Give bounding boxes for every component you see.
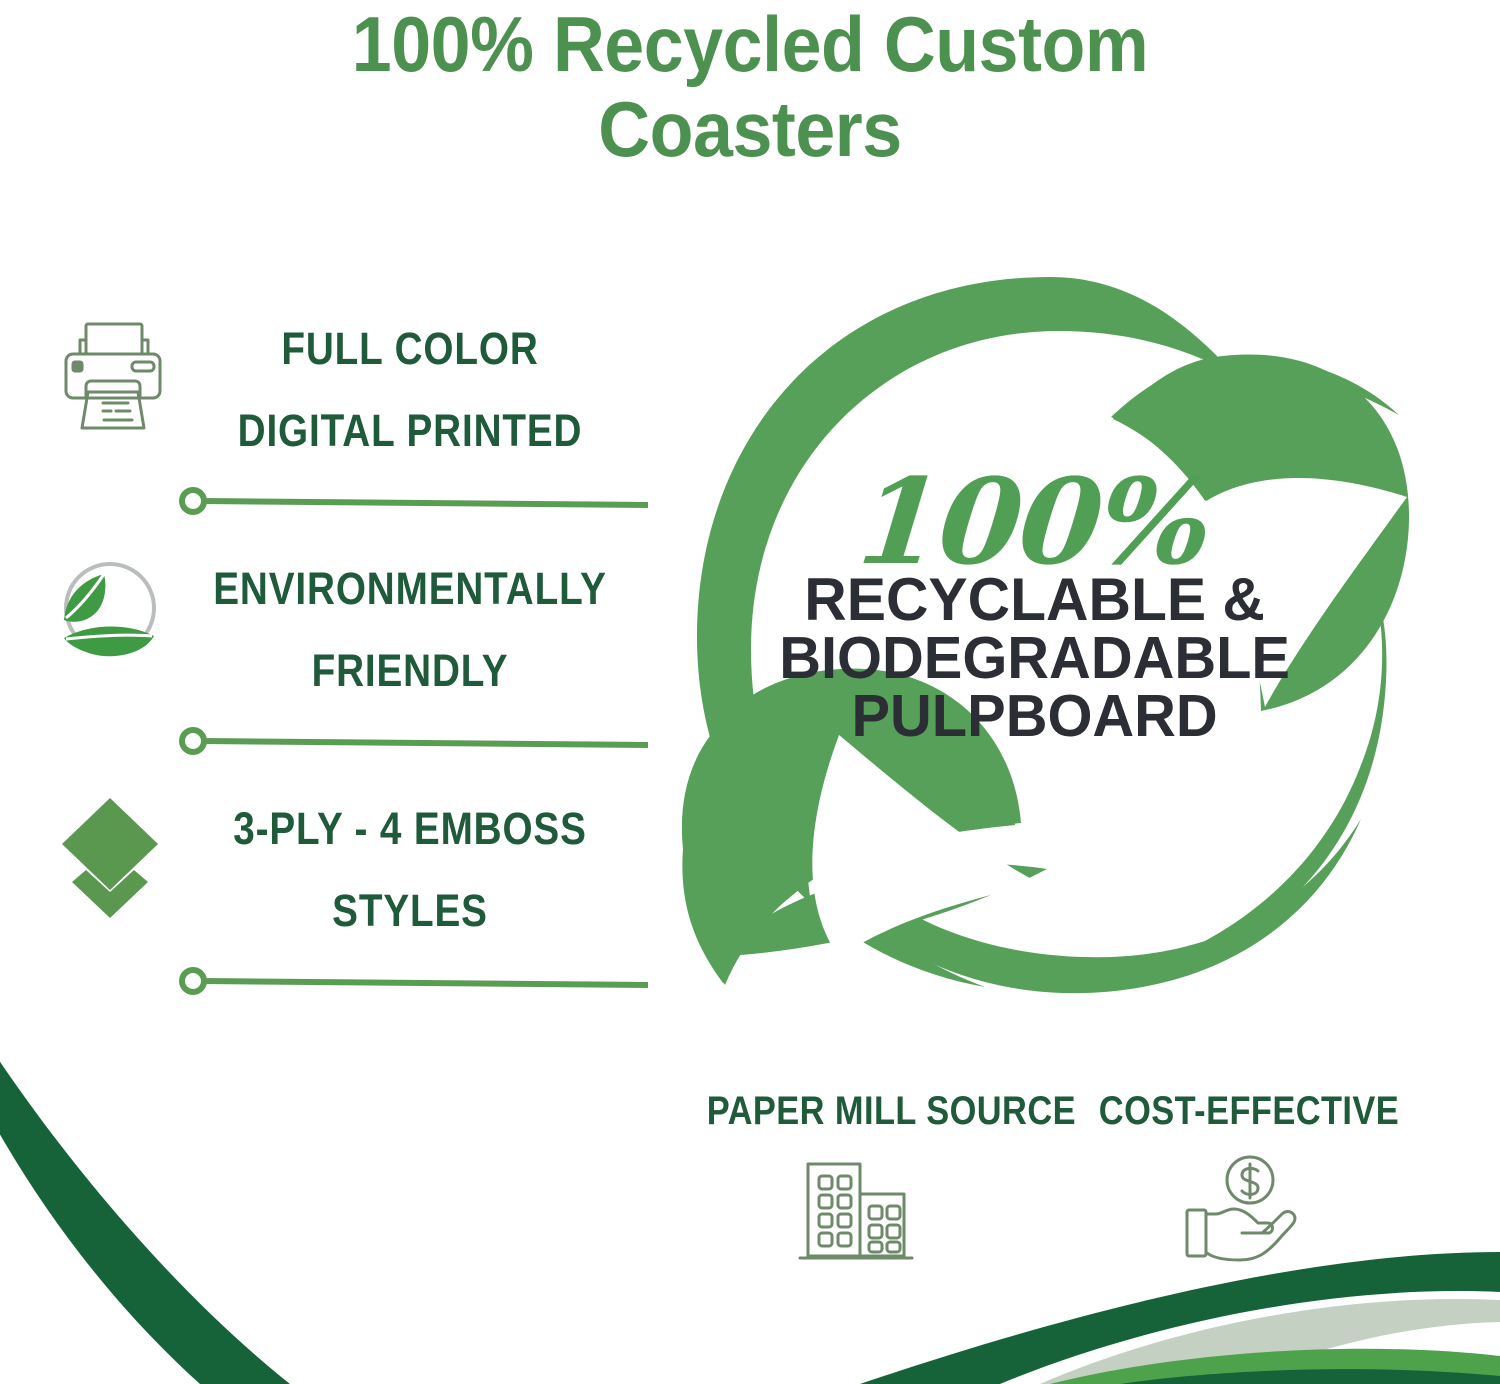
bottom-light-wave	[1040, 1299, 1500, 1384]
recyclable-badge: 100% RECYCLABLE & BIODEGRADABLE PULPBOAR…	[655, 245, 1415, 1045]
feature-item-full-color-digital-printed: FULL COLOR DIGITAL PRINTED	[0, 300, 680, 540]
feature-label-line-1: FULL COLOR	[204, 308, 617, 390]
bottom-block-paper-mill-source: PAPER MILL SOURCE	[683, 1088, 1023, 1270]
layers-stack-icon	[48, 790, 178, 920]
feature-label-line-2: FRIENDLY	[204, 630, 617, 712]
feature-divider	[178, 726, 648, 756]
hand-with-coin-icon	[1180, 1150, 1310, 1270]
bottom-deep-strip	[1120, 1369, 1500, 1384]
feature-divider	[178, 486, 648, 516]
buildings-icon	[788, 1150, 918, 1270]
feature-label-environmentally-friendly: ENVIRONMENTALLY FRIENDLY	[204, 548, 617, 712]
leaf-circle-icon	[48, 550, 178, 680]
feature-label-line-2: STYLES	[204, 870, 617, 952]
feature-label-3ply-4-emboss-styles: 3-PLY - 4 EMBOSS STYLES	[204, 788, 617, 952]
feature-label-line-1: ENVIRONMENTALLY	[204, 548, 617, 630]
feature-list: FULL COLOR DIGITAL PRINTED	[0, 300, 680, 1020]
feature-label-line-1: 3-PLY - 4 EMBOSS	[204, 788, 617, 870]
page-title-line-1: 100% Recycled Custom	[60, 2, 1440, 87]
brush-circle	[655, 245, 1415, 1045]
bottom-block-label: PAPER MILL SOURCE	[707, 1088, 999, 1134]
feature-item-3ply-4-emboss-styles: 3-PLY - 4 EMBOSS STYLES	[0, 780, 680, 1020]
feature-divider	[178, 966, 648, 996]
left-arc-decoration	[0, 1000, 290, 1384]
bottom-bright-wave	[1050, 1349, 1500, 1384]
printer-icon	[48, 310, 178, 440]
feature-label-full-color-digital-printed: FULL COLOR DIGITAL PRINTED	[204, 308, 617, 472]
bottom-dark-wave	[860, 1252, 1500, 1384]
feature-item-environmentally-friendly: ENVIRONMENTALLY FRIENDLY	[0, 540, 680, 780]
feature-label-line-2: DIGITAL PRINTED	[204, 390, 617, 472]
infographic-canvas: 100% Recycled Custom Coasters	[0, 0, 1500, 1384]
page-title: 100% Recycled Custom Coasters	[60, 2, 1440, 172]
bottom-block-cost-effective: COST-EFFECTIVE	[1075, 1088, 1415, 1270]
bottom-block-label: COST-EFFECTIVE	[1099, 1088, 1391, 1134]
page-title-line-2: Coasters	[60, 87, 1440, 172]
